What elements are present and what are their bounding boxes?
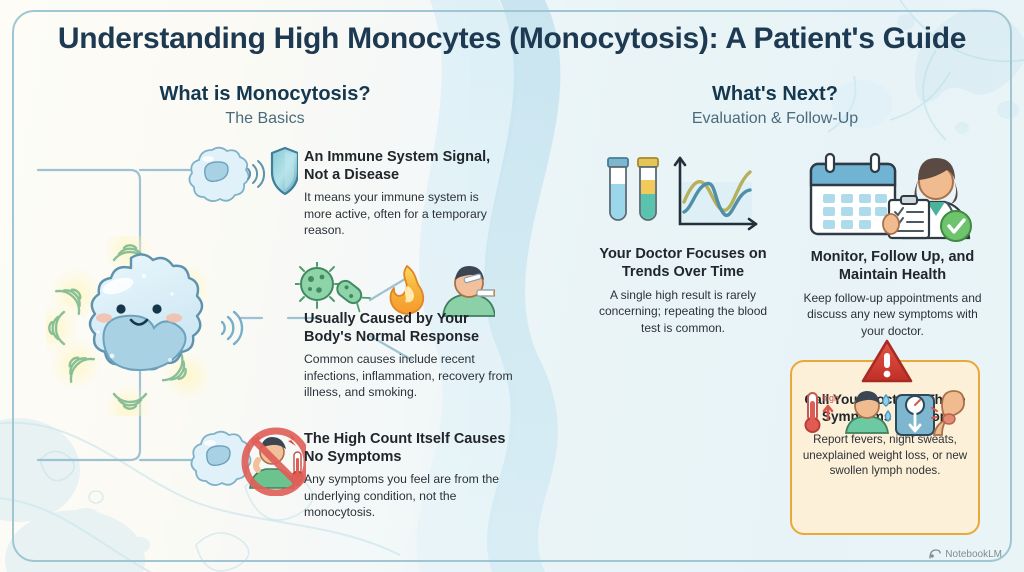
warning-triangle-icon <box>861 338 913 384</box>
right-item-1-title: Your Doctor Focuses on Trends Over Time <box>588 245 778 281</box>
right-column-subheading: Evaluation & Follow-Up <box>560 110 990 128</box>
notebooklm-logo-icon <box>929 548 941 560</box>
left-item-3: The High Count Itself Causes No Symptoms… <box>304 430 509 521</box>
signal-waves-icon <box>248 161 264 187</box>
thermometer-fever-icon: high <box>806 393 840 432</box>
left-item-3-body: Any symptoms you feel are from the under… <box>304 471 509 520</box>
right-item-2-icon-group <box>805 152 980 242</box>
infographic-poster: Understanding High Monocytes (Monocytosi… <box>0 0 1024 572</box>
thermometer-high-label: high <box>822 393 839 403</box>
row1-icon-group <box>186 142 298 206</box>
virus-bacteria-icon <box>295 262 370 311</box>
trend-line-chart-icon <box>675 158 756 229</box>
right-item-2-body: Keep follow-up appointments and discuss … <box>795 290 990 339</box>
left-column-subheading: The Basics <box>50 110 480 128</box>
flame-icon <box>390 266 423 314</box>
right-item-1-icon-group <box>600 152 765 240</box>
monocyte-character-icon <box>46 236 256 416</box>
watermark-label: NotebookLM <box>945 549 1002 560</box>
page-title: Understanding High Monocytes (Monocytosi… <box>0 22 1024 56</box>
right-column-header: What's Next? Evaluation & Follow-Up <box>560 82 990 128</box>
no-symptoms-prohibition-icon <box>245 431 306 493</box>
blood-test-tubes-icon <box>608 158 658 220</box>
left-item-1-title: An Immune System Signal, Not a Disease <box>304 148 509 184</box>
right-item-1: Your Doctor Focuses on Trends Over Time … <box>588 245 778 336</box>
left-column-heading: What is Monocytosis? <box>50 82 480 106</box>
swollen-lymph-node-icon <box>932 391 964 435</box>
left-item-2: Usually Caused by Your Body's Normal Res… <box>304 310 514 401</box>
left-item-1: An Immune System Signal, Not a Disease I… <box>304 148 509 239</box>
left-item-2-body: Common causes include recent infections,… <box>304 351 514 400</box>
night-sweats-icon <box>846 391 891 433</box>
left-item-3-title: The High Count Itself Causes No Symptoms <box>304 430 509 466</box>
right-column-heading: What's Next? <box>560 82 990 106</box>
row3-icon-group <box>186 424 306 496</box>
left-column-header: What is Monocytosis? The Basics <box>50 82 480 128</box>
right-item-1-body: A single high result is rarely concernin… <box>588 287 778 336</box>
monocyte-cell-icon <box>189 148 248 201</box>
right-item-2-title: Monitor, Follow Up, and Maintain Health <box>795 248 990 284</box>
weight-loss-scale-icon <box>896 395 934 435</box>
left-item-2-title: Usually Caused by Your Body's Normal Res… <box>304 310 514 346</box>
sick-smoker-person-icon <box>443 262 495 316</box>
shield-icon <box>272 148 298 194</box>
warning-symptom-icon-group: high <box>800 385 970 441</box>
right-item-2: Monitor, Follow Up, and Maintain Health … <box>795 248 990 339</box>
notebooklm-watermark: NotebookLM <box>929 548 1002 560</box>
left-item-1-body: It means your immune system is more acti… <box>304 189 509 238</box>
doctor-clipboard-check-icon <box>883 158 971 241</box>
